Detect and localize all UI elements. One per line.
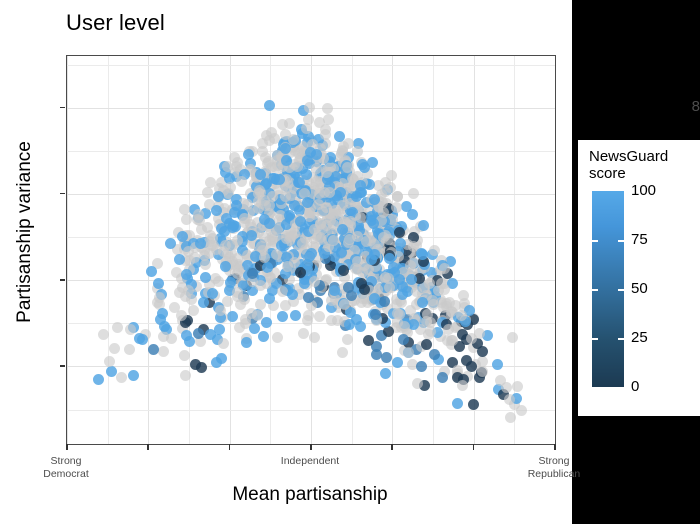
scatter-point <box>403 347 414 358</box>
scatter-point <box>337 347 348 358</box>
y-tick-mark <box>60 365 65 366</box>
colorbar-tick-mark <box>618 289 624 291</box>
colorbar-tick-label: 50 <box>631 280 648 297</box>
scatter-point <box>343 138 354 149</box>
scatter-point <box>277 311 288 322</box>
scatter-point <box>344 319 355 330</box>
scatter-point <box>380 368 391 379</box>
scatter-point <box>391 202 402 213</box>
colorbar-gradient <box>592 191 624 387</box>
colorbar-tick-mark <box>618 240 624 242</box>
x-tick-label: StrongDemocrat <box>11 455 121 480</box>
scatter-point <box>211 357 222 368</box>
scatter-point <box>222 161 233 172</box>
scatter-point <box>477 346 488 357</box>
scatter-point <box>444 297 455 308</box>
scatter-point <box>213 191 224 202</box>
scatter-point <box>264 293 275 304</box>
scatter-point <box>397 289 408 300</box>
chart-root: User level Partisanship variance Mean pa… <box>0 0 700 524</box>
scatter-point <box>200 272 211 283</box>
scatter-point <box>294 177 305 188</box>
scatter-point <box>399 321 410 332</box>
scatter-point <box>124 344 135 355</box>
scatter-point <box>280 143 291 154</box>
x-tick-label: StrongRepublican <box>499 455 609 480</box>
scatter-point <box>339 299 350 310</box>
scatter-point <box>371 349 382 360</box>
x-tick-label: Independent <box>255 455 365 468</box>
scatter-point <box>181 214 192 225</box>
scatter-point <box>274 174 285 185</box>
y-axis-title: Partisanship variance <box>14 32 36 432</box>
scatter-point <box>284 210 295 221</box>
scatter-point <box>264 100 275 111</box>
scatter-point <box>439 263 450 274</box>
scatter-point <box>303 292 314 303</box>
colorbar-tick-label: 100 <box>631 182 656 199</box>
scatter-point <box>233 264 244 275</box>
scatter-point <box>252 310 263 321</box>
x-tick-mark <box>391 444 393 450</box>
legend-title-line1: NewsGuard <box>589 148 668 165</box>
gridline-vertical <box>555 56 556 444</box>
scatter-point <box>188 305 199 316</box>
scatter-point <box>383 273 394 284</box>
scatter-point <box>181 269 192 280</box>
scatter-point <box>207 288 218 299</box>
scatter-point <box>320 129 331 140</box>
scatter-point <box>461 355 472 366</box>
y-tick-mark <box>60 107 65 108</box>
page-title: User level <box>66 10 165 36</box>
scatter-point <box>261 317 272 328</box>
scatter-point <box>264 218 275 229</box>
colorbar-tick-mark <box>592 338 598 340</box>
scatter-point <box>195 238 206 249</box>
scatter-point <box>262 158 273 169</box>
scatter-point <box>128 370 139 381</box>
x-tick-mark <box>473 444 475 450</box>
scatter-point <box>106 366 117 377</box>
scatter-point <box>369 194 380 205</box>
scatter-point <box>355 321 366 332</box>
scatter-point <box>260 200 271 211</box>
scatter-point <box>246 230 257 241</box>
scatter-point <box>219 226 230 237</box>
scatter-point <box>241 337 252 348</box>
scatter-point <box>174 254 185 265</box>
scatter-point <box>512 381 523 392</box>
scatter-point <box>398 334 409 345</box>
scatter-point <box>125 324 136 335</box>
scatter-point <box>287 289 298 300</box>
scatter-point <box>198 297 209 308</box>
scatter-point <box>424 278 435 289</box>
x-tick-mark <box>229 444 231 450</box>
legend-title: NewsGuard score <box>589 148 695 182</box>
scatter-point <box>202 187 213 198</box>
scatter-point <box>271 249 282 260</box>
scatter-point <box>146 266 157 277</box>
colorbar-tick-mark <box>592 289 598 291</box>
scatter-point <box>329 285 340 296</box>
plot-panel <box>66 55 556 445</box>
scatter-point <box>369 249 380 260</box>
scatter-point <box>153 278 164 289</box>
scatter-point <box>477 366 488 377</box>
scatter-point <box>315 219 326 230</box>
scatter-point <box>304 102 315 113</box>
scatter-point <box>352 231 363 242</box>
scatter-point <box>505 412 516 423</box>
scatter-point <box>272 332 283 343</box>
x-tick-mark <box>66 444 68 450</box>
x-axis-title: Mean partisanship <box>66 484 554 506</box>
x-tick-mark <box>147 444 149 450</box>
scatter-point <box>134 333 145 344</box>
scatter-point <box>301 123 312 134</box>
scatter-point <box>314 311 325 322</box>
scatter-point <box>109 343 120 354</box>
scatter-point <box>507 332 518 343</box>
scatter-point <box>232 157 243 168</box>
scatter-point <box>407 209 418 220</box>
scatter-point <box>293 148 304 159</box>
scatter-point <box>313 199 324 210</box>
scatter-point <box>298 328 309 339</box>
scatter-point <box>277 119 288 130</box>
legend-title-line2: score <box>589 165 626 182</box>
scatter-point <box>468 399 479 410</box>
y-tick-label: 8 <box>648 98 700 115</box>
scatter-point <box>501 382 512 393</box>
scatter-point <box>392 357 403 368</box>
scatter-point <box>234 322 245 333</box>
scatter-point <box>213 276 224 287</box>
scatter-point <box>355 180 366 191</box>
scatter-point <box>193 328 204 339</box>
scatter-point <box>211 205 222 216</box>
scatter-point <box>369 293 380 304</box>
scatter-point <box>258 331 269 342</box>
scatter-point <box>112 322 123 333</box>
scatter-point <box>429 245 440 256</box>
scatter-point <box>452 398 463 409</box>
legend-panel: NewsGuard score 1007550250 <box>578 140 700 416</box>
colorbar-tick-label: 0 <box>631 378 639 395</box>
scatter-points-layer <box>67 56 555 444</box>
scatter-point <box>148 344 159 355</box>
scatter-point <box>179 204 190 215</box>
scatter-point <box>288 134 299 145</box>
colorbar-tick-label: 25 <box>631 329 648 346</box>
y-tick-mark <box>60 193 65 194</box>
scatter-point <box>342 162 353 173</box>
colorbar-tick-mark <box>618 338 624 340</box>
scatter-point <box>322 103 333 114</box>
scatter-point <box>418 220 429 231</box>
scatter-point <box>305 147 316 158</box>
scatter-point <box>383 326 394 337</box>
scatter-point <box>303 310 314 321</box>
scatter-point <box>457 380 468 391</box>
scatter-point <box>504 394 515 405</box>
scatter-point <box>492 359 503 370</box>
x-tick-mark <box>554 444 556 450</box>
scatter-point <box>302 197 313 208</box>
scatter-point <box>171 267 182 278</box>
scatter-point <box>261 130 272 141</box>
scatter-point <box>417 249 428 260</box>
scatter-point <box>338 265 349 276</box>
scatter-point <box>290 310 301 321</box>
scatter-point <box>285 231 296 242</box>
scatter-point <box>458 290 469 301</box>
scatter-point <box>207 233 218 244</box>
scatter-point <box>196 362 207 373</box>
scatter-point <box>368 218 379 229</box>
colorbar-tick-label: 75 <box>631 231 648 248</box>
y-tick-mark <box>60 279 65 280</box>
scatter-point <box>392 191 403 202</box>
scatter-point <box>477 356 488 367</box>
scatter-point <box>437 372 448 383</box>
scatter-point <box>378 232 389 243</box>
scatter-point <box>236 176 247 187</box>
scatter-point <box>328 235 339 246</box>
scatter-point <box>395 238 406 249</box>
scatter-point <box>259 252 270 263</box>
scatter-point <box>416 361 427 372</box>
scatter-point <box>180 370 191 381</box>
scatter-point <box>363 335 374 346</box>
scatter-point <box>104 356 115 367</box>
scatter-point <box>227 311 238 322</box>
scatter-point <box>259 232 270 243</box>
scatter-point <box>309 332 320 343</box>
scatter-point <box>394 227 405 238</box>
scatter-point <box>379 296 390 307</box>
scatter-point <box>342 334 353 345</box>
scatter-point <box>157 308 168 319</box>
scatter-point <box>443 324 454 335</box>
scatter-point <box>408 188 419 199</box>
scatter-point <box>447 335 458 346</box>
scatter-point <box>218 338 229 349</box>
scatter-point <box>280 300 291 311</box>
x-tick-mark <box>310 444 312 450</box>
scatter-point <box>116 372 127 383</box>
scatter-point <box>311 163 322 174</box>
scatter-point <box>516 405 527 416</box>
scatter-point <box>93 374 104 385</box>
scatter-point <box>249 323 260 334</box>
scatter-point <box>381 352 392 363</box>
scatter-point <box>243 149 254 160</box>
scatter-point <box>309 276 320 287</box>
scatter-point <box>417 297 428 308</box>
scatter-point <box>421 339 432 350</box>
scatter-point <box>436 278 447 289</box>
colorbar-tick-mark <box>592 240 598 242</box>
scatter-point <box>158 346 169 357</box>
scatter-point <box>179 350 190 361</box>
scatter-point <box>98 329 109 340</box>
scatter-point <box>196 224 207 235</box>
